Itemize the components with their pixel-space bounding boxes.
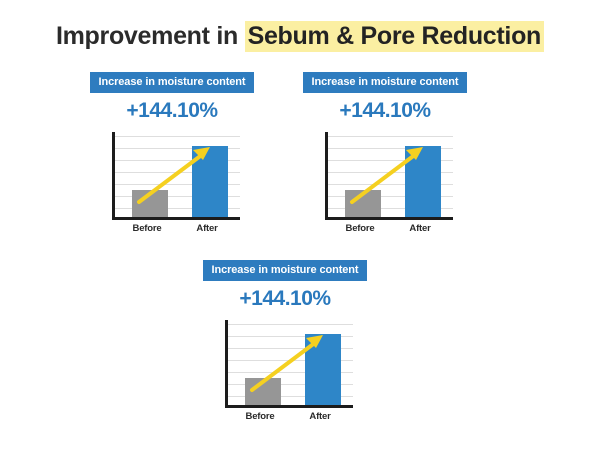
page-title: Improvement in Sebum & Pore Reduction xyxy=(0,22,600,51)
chart-plot-area xyxy=(225,320,353,408)
chart-x-axis-labels: Before After xyxy=(325,223,453,239)
growth-arrow-icon xyxy=(228,320,356,408)
card-badge-label: Increase in moisture content xyxy=(303,72,468,93)
page-title-plain: Improvement in xyxy=(56,22,245,50)
growth-arrow-icon xyxy=(328,132,456,220)
card-percent-value: +144.10% xyxy=(285,99,485,123)
metric-card: Increase in moisture content +144.10% Be… xyxy=(185,260,385,428)
chart-x-axis-labels: Before After xyxy=(225,411,353,427)
growth-arrow-icon xyxy=(115,132,243,220)
x-label-before: Before xyxy=(227,411,293,422)
card-percent-value: +144.10% xyxy=(72,99,272,123)
metric-card: Increase in moisture content +144.10% Be… xyxy=(72,72,272,240)
card-badge-label: Increase in moisture content xyxy=(90,72,255,93)
before-after-bar-chart: Before After xyxy=(215,320,355,428)
x-label-after: After xyxy=(387,223,453,234)
chart-plot-area xyxy=(112,132,240,220)
metric-card: Increase in moisture content +144.10% Be… xyxy=(285,72,485,240)
chart-x-axis-labels: Before After xyxy=(112,223,240,239)
card-percent-value: +144.10% xyxy=(185,287,385,311)
chart-plot-area xyxy=(325,132,453,220)
card-badge-label: Increase in moisture content xyxy=(203,260,368,281)
before-after-bar-chart: Before After xyxy=(315,132,455,240)
x-label-before: Before xyxy=(114,223,180,234)
x-label-after: After xyxy=(287,411,353,422)
page-title-highlighted: Sebum & Pore Reduction xyxy=(245,21,544,52)
before-after-bar-chart: Before After xyxy=(102,132,242,240)
x-label-before: Before xyxy=(327,223,393,234)
x-label-after: After xyxy=(174,223,240,234)
